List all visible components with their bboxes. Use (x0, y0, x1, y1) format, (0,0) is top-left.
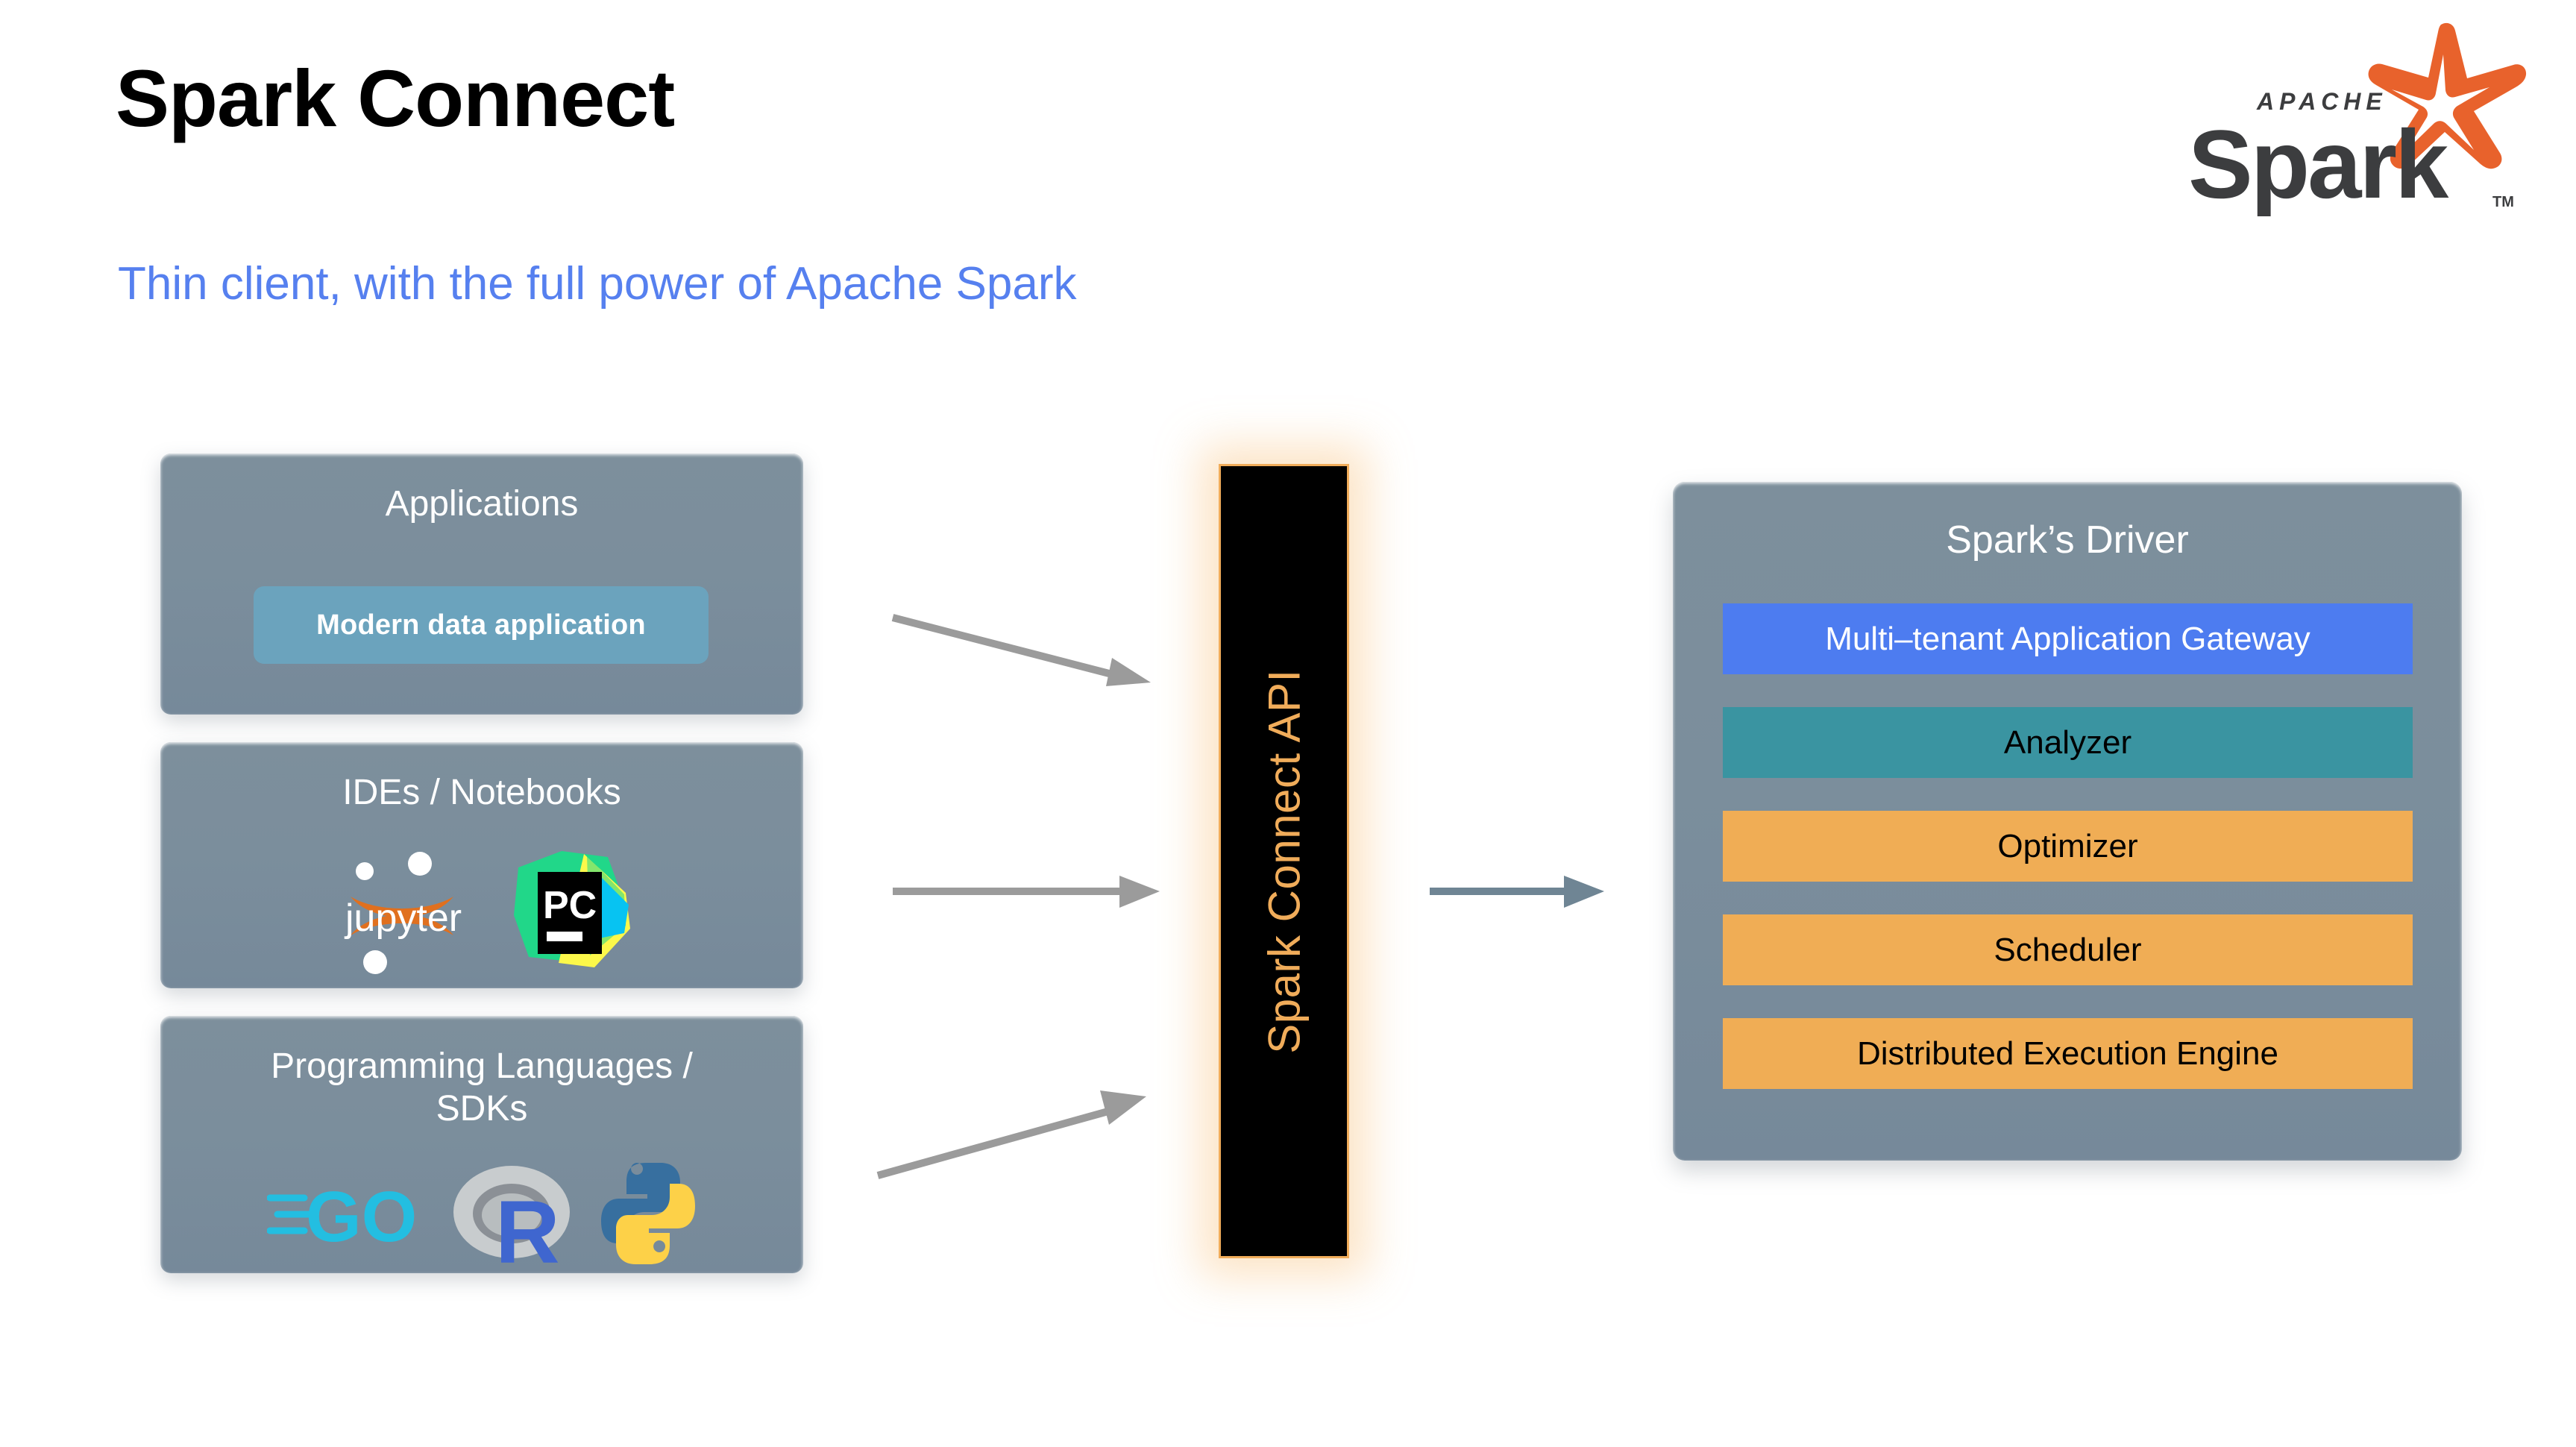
page-subtitle: Thin client, with the full power of Apac… (118, 261, 1076, 307)
spark-driver-panel[interactable]: Spark’s Driver Multi–tenant Application … (1673, 482, 2462, 1161)
arrow-api-to-driver (1428, 858, 1607, 925)
driver-row-optimizer[interactable]: Optimizer (1723, 811, 2413, 882)
arrowhead (1106, 658, 1151, 686)
pycharm-underscore (547, 932, 582, 941)
spark-connect-api-label: Spark Connect API (1258, 669, 1310, 1053)
ides-logo-row: jupyter PC (160, 853, 803, 972)
arrowhead (1564, 876, 1604, 908)
client-box-ides-title: IDEs / Notebooks (160, 772, 803, 814)
driver-row-scheduler[interactable]: Scheduler (1723, 914, 2413, 985)
spark-connect-api-bar[interactable]: Spark Connect API (1219, 464, 1349, 1258)
python-logo (600, 1161, 697, 1266)
client-box-languages-title: Programming Languages / SDKs (160, 1046, 803, 1130)
r-wordmark: R (495, 1182, 560, 1268)
jupyter-dot-left (356, 862, 374, 880)
modern-data-application-chip[interactable]: Modern data application (254, 586, 709, 664)
arrow-ides-to-api (891, 858, 1167, 925)
client-box-languages-title-line1: Programming Languages / (160, 1046, 803, 1088)
apache-spark-logo: APACHE Spark TM (2143, 19, 2531, 216)
go-wordmark: GO (306, 1177, 417, 1255)
r-logo: R (452, 1160, 571, 1268)
languages-logo-row: GO R (160, 1158, 803, 1269)
pycharm-wordmark: PC (543, 884, 597, 927)
driver-row-multi-tenant-application-gateway[interactable]: Multi–tenant Application Gateway (1723, 603, 2413, 674)
driver-row-analyzer[interactable]: Analyzer (1723, 707, 2413, 778)
page-title: Spark Connect (116, 58, 674, 139)
go-logo: GO (267, 1173, 424, 1255)
arrowhead (1100, 1090, 1146, 1125)
client-box-programming-languages[interactable]: Programming Languages / SDKs GO R (160, 1016, 803, 1273)
arrow-languages-to-api (876, 1044, 1167, 1178)
client-box-applications[interactable]: Applications Modern data application (160, 453, 803, 715)
jupyter-dot-top (408, 852, 432, 876)
pycharm-logo: PC (512, 851, 632, 974)
jupyter-dot-bottom (363, 950, 387, 974)
go-speed-lines (270, 1198, 309, 1231)
arrow-applications-to-api (891, 612, 1167, 709)
client-box-applications-title: Applications (160, 483, 803, 526)
spark-wordmark: Spark (2188, 110, 2449, 216)
arrowhead (1119, 876, 1160, 908)
jupyter-logo: jupyter (332, 849, 481, 976)
driver-row-distributed-execution-engine[interactable]: Distributed Execution Engine (1723, 1018, 2413, 1089)
client-box-ides-notebooks[interactable]: IDEs / Notebooks jupyter PC (160, 742, 803, 988)
jupyter-wordmark: jupyter (344, 897, 462, 940)
trademark-mark: TM (2492, 194, 2514, 210)
client-box-languages-title-line2: SDKs (160, 1088, 803, 1131)
spark-driver-title: Spark’s Driver (1673, 518, 2462, 562)
